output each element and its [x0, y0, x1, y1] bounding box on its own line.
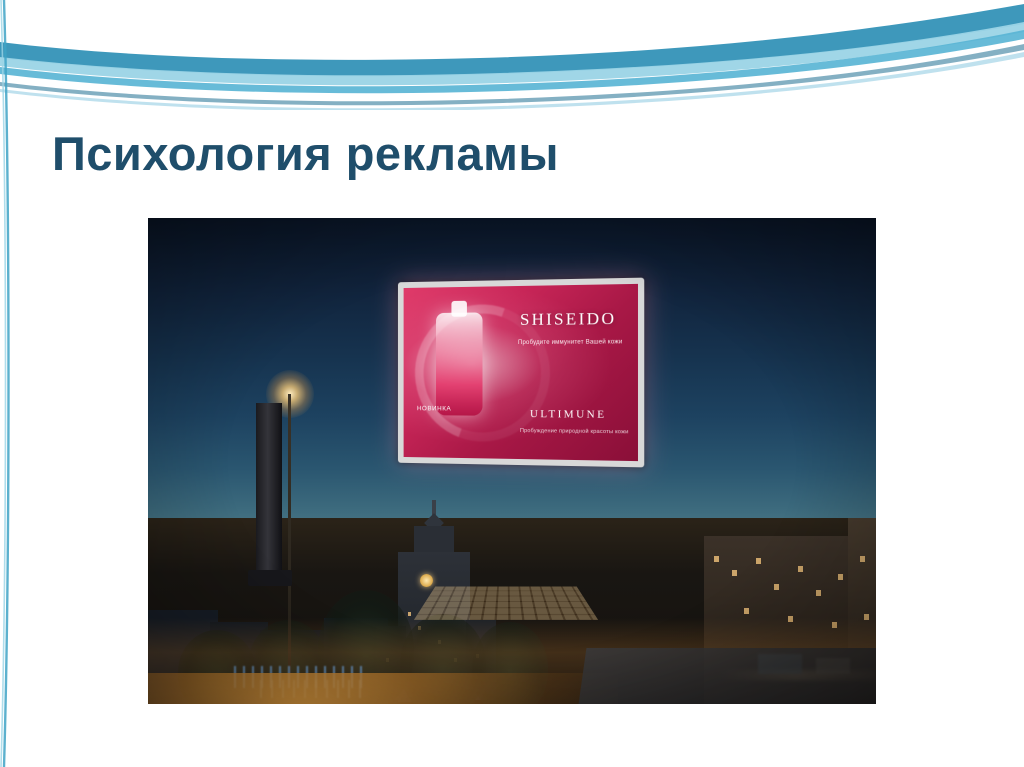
page-title: Психология рекламы [52, 128, 952, 181]
ad-tagline: Пробудите иммунитет Вашей кожи [518, 339, 632, 348]
building-window [756, 558, 761, 564]
building-window [774, 584, 779, 590]
billboard-frame: SHISEIDO Пробудите иммунитет Вашей кожи … [398, 278, 644, 468]
brand-logo-text: SHISEIDO [520, 309, 626, 330]
slide: Психология рекламы [0, 0, 1024, 767]
product-name-text: ULTIMUNE [530, 408, 632, 421]
left-accent-strip [0, 0, 14, 767]
tower-window [408, 612, 411, 616]
building-window [744, 608, 749, 614]
swoosh-svg [0, 0, 1024, 110]
new-badge-text: НОВИНКА [417, 405, 451, 412]
product-bottle-image [436, 312, 483, 415]
billboard-ad-surface: SHISEIDO Пробудите иммунитет Вашей кожи … [404, 284, 638, 461]
tower-clock [420, 574, 433, 587]
building-window [732, 570, 737, 576]
billboard: SHISEIDO Пробудите иммунитет Вашей кожи … [394, 280, 642, 465]
night-city-billboard-photo: SHISEIDO Пробудите иммунитет Вашей кожи … [148, 218, 876, 704]
photo-canvas: SHISEIDO Пробудите иммунитет Вашей кожи … [148, 218, 876, 704]
building-window [816, 590, 821, 596]
building-window [860, 556, 865, 562]
building-window [838, 574, 843, 580]
decorative-swoosh-band [0, 0, 1024, 110]
billboard-support-pole [256, 403, 282, 575]
billboard-base [248, 570, 292, 586]
building-window [798, 566, 803, 572]
product-subtext: Пробуждение природной красоты кожи [520, 428, 638, 435]
road-asphalt [570, 648, 876, 704]
building-window [714, 556, 719, 562]
pavement-lit-area [148, 673, 618, 704]
pavement-tile-patch [414, 586, 598, 619]
left-accent-svg [0, 0, 14, 767]
